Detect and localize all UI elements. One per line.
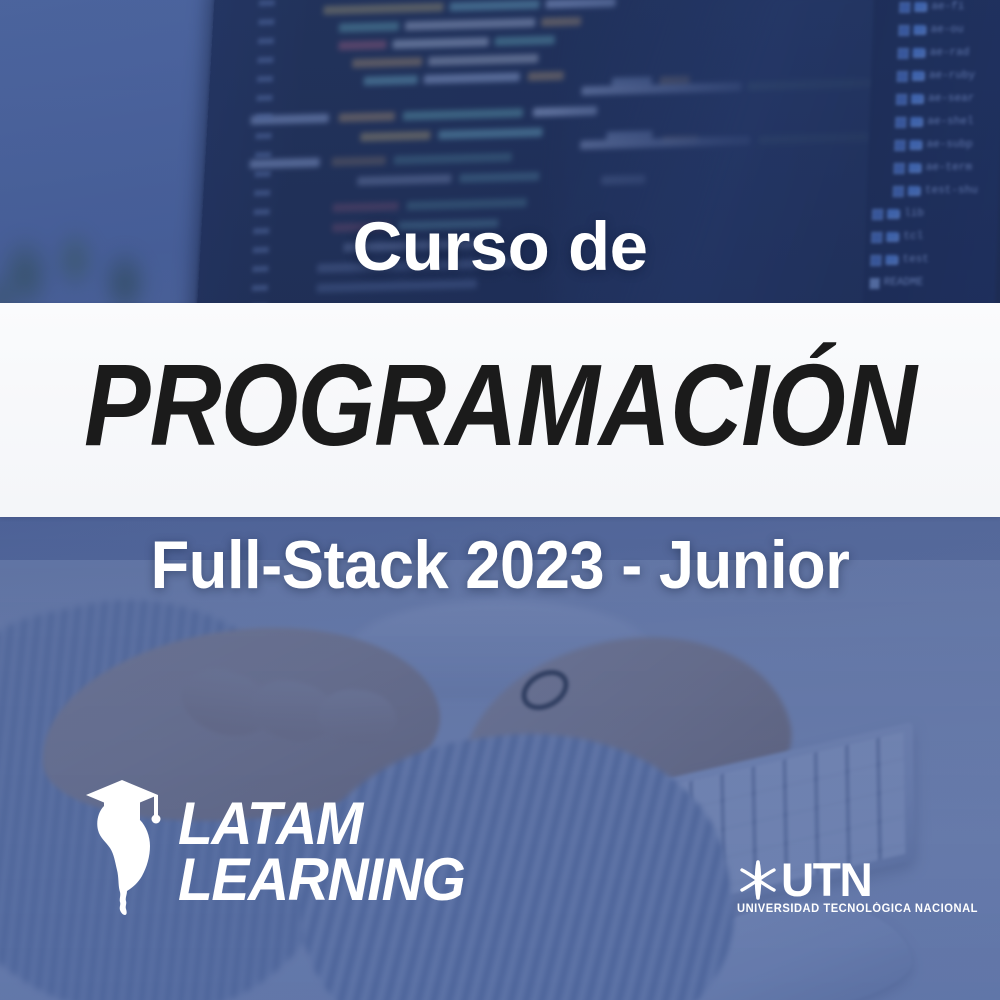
subtitle-text: Full-Stack 2023 - Junior xyxy=(35,531,965,599)
latam-learning-logo: LATAM LEARNING xyxy=(84,778,484,920)
kicker-text: Curso de xyxy=(0,212,1000,281)
course-promo-poster: ae-fiae-ouae-radae-rubyae-searae-shelae-… xyxy=(0,0,1000,1000)
latam-learning-wordmark: LATAM LEARNING xyxy=(178,796,464,908)
page-title: PROGRAMACIÓN xyxy=(70,346,930,464)
latam-line-2: LEARNING xyxy=(178,852,464,908)
graduation-cap-south-america-icon xyxy=(84,778,162,918)
utn-star-icon xyxy=(737,859,779,901)
latam-line-1: LATAM xyxy=(178,796,464,852)
utn-tagline: UNIVERSIDAD TECNOLÓGICA NACIONAL xyxy=(737,903,919,915)
utn-wordmark: UTN xyxy=(781,858,871,902)
utn-logo: UTN UNIVERSIDAD TECNOLÓGICA NACIONAL xyxy=(737,858,925,918)
